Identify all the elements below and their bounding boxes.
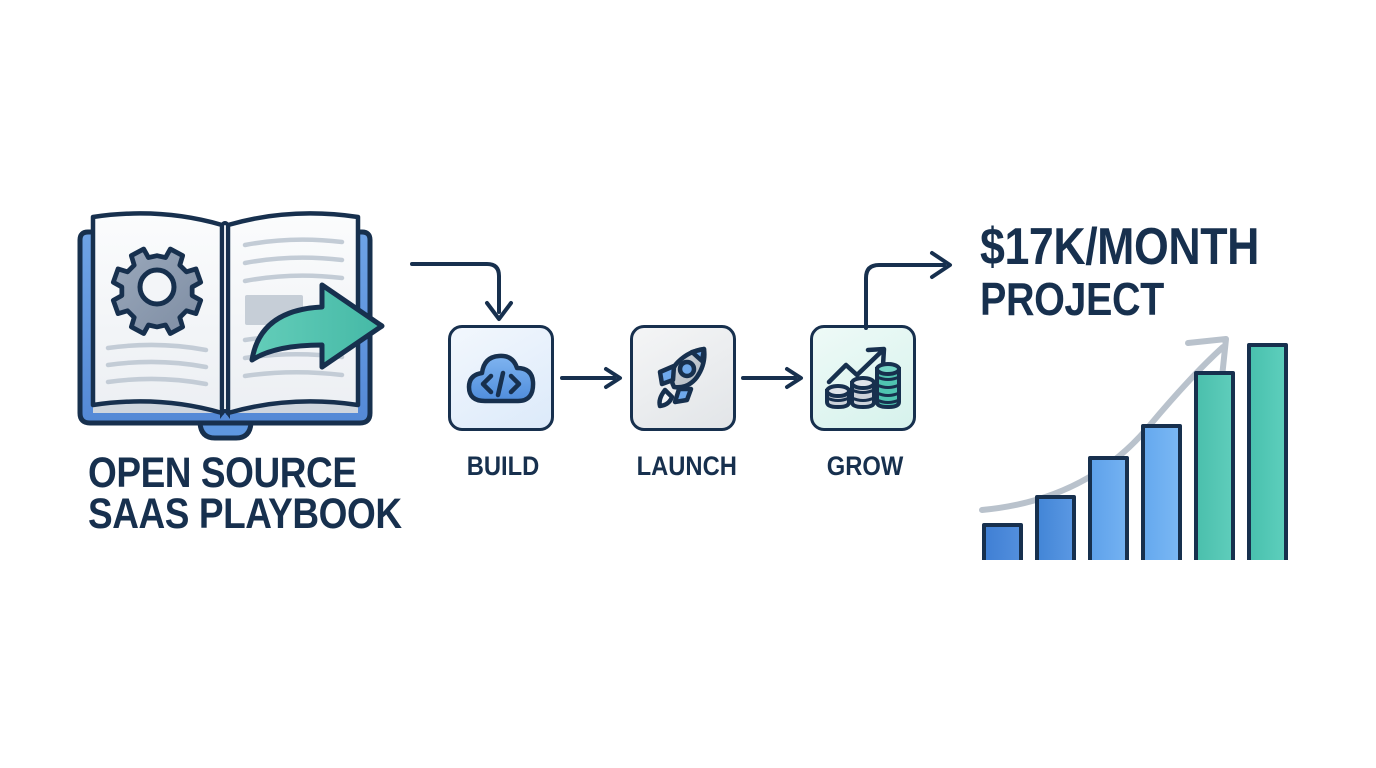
flow-step-label-grow: GROW <box>817 451 914 482</box>
coin-stack-2 <box>852 378 874 407</box>
build-icon-box[interactable] <box>448 325 554 431</box>
bar-2 <box>1037 497 1074 560</box>
growth-bar-chart <box>960 285 1320 560</box>
open-book-icon <box>60 195 420 445</box>
bar-6 <box>1249 345 1286 560</box>
infographic-canvas: OPEN SOURCE SAAS PLAYBOOK <box>0 0 1376 768</box>
page-title: OPEN SOURCE SAAS PLAYBOOK <box>88 453 402 536</box>
result-amount: $17K/MONTH <box>980 223 1259 273</box>
chart-bars <box>984 345 1286 560</box>
grow-icon-box[interactable] <box>810 325 916 431</box>
bar-1 <box>984 525 1021 560</box>
connector-build-to-launch <box>562 369 620 387</box>
launch-icon-box[interactable] <box>630 325 736 431</box>
playbook-block: OPEN SOURCE SAAS PLAYBOOK <box>60 195 420 560</box>
cloud-code-icon <box>465 347 537 409</box>
playbook-title-line2: SAAS PLAYBOOK <box>88 494 402 535</box>
flow-step-launch[interactable]: LAUNCH <box>630 325 740 482</box>
coins-growth-icon <box>824 344 902 412</box>
bar-5 <box>1196 373 1233 560</box>
flow-step-label-build: BUILD <box>455 451 552 482</box>
results-block: $17K/MONTH PROJECT <box>960 215 1320 560</box>
connector-launch-to-grow <box>743 369 801 387</box>
flow-step-grow[interactable]: GROW <box>810 325 920 482</box>
connector-book-to-build <box>412 264 511 319</box>
bar-3 <box>1090 458 1127 560</box>
coin-stack-3 <box>877 364 899 407</box>
flow-step-build[interactable]: BUILD <box>448 325 558 482</box>
flow-step-label-launch: LAUNCH <box>637 451 734 482</box>
rocket-icon <box>647 342 719 414</box>
connector-grow-to-results <box>866 253 950 328</box>
coin-stack-1 <box>827 386 849 407</box>
bar-4 <box>1143 426 1180 560</box>
